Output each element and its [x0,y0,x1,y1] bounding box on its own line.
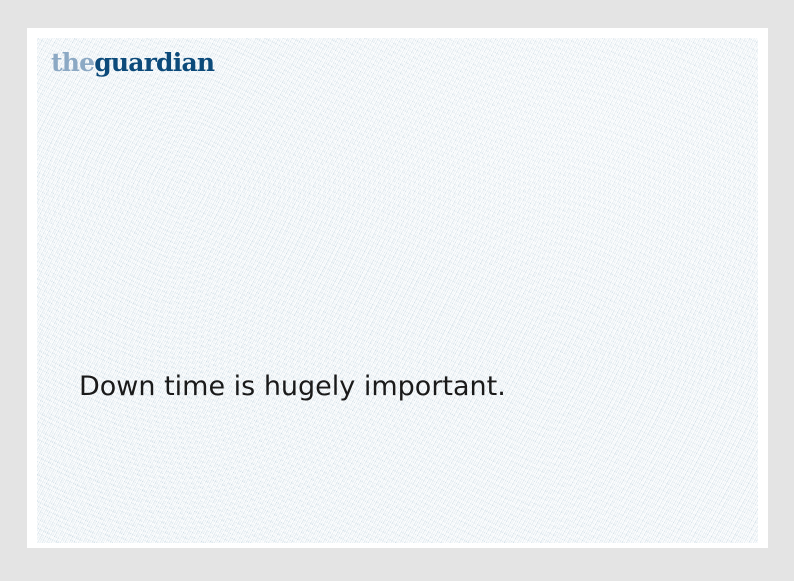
photo-frame: theguardian Down time is hugely importan… [27,28,768,548]
textured-paper-background: theguardian Down time is hugely importan… [37,38,758,543]
quote-caption: Down time is hugely important. [79,371,506,403]
logo-word-guardian: guardian [94,48,214,77]
logo-word-the: the [51,48,94,77]
the-guardian-logo: theguardian [51,50,214,75]
paper-content: theguardian Down time is hugely importan… [37,38,758,543]
